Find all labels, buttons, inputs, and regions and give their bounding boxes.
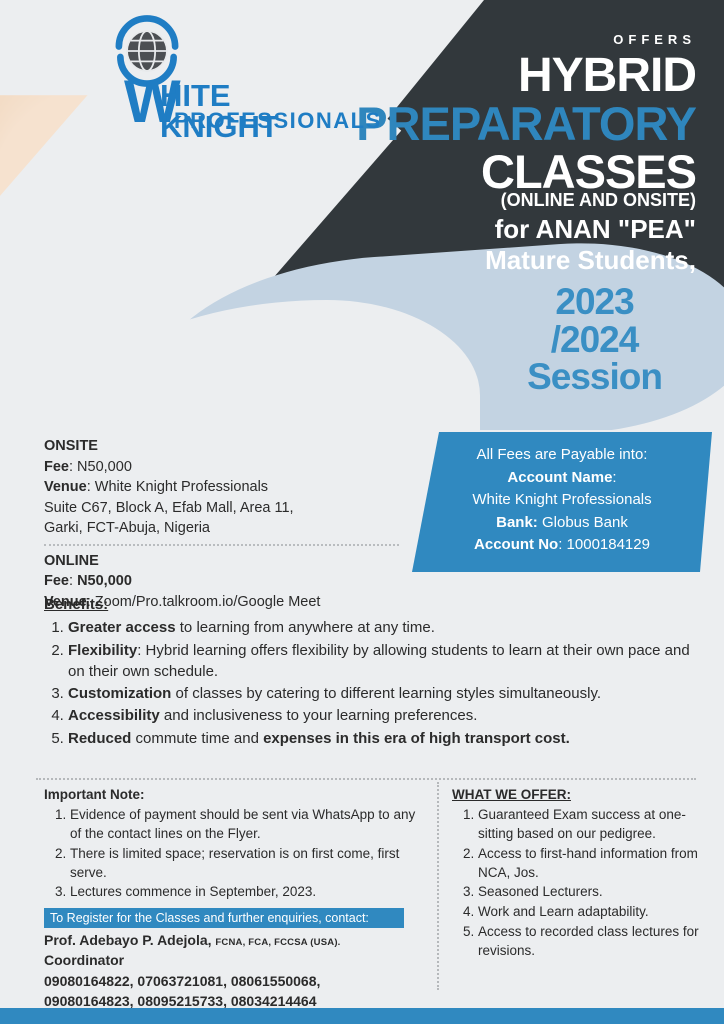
contact-role: Coordinator (44, 950, 434, 970)
onsite-fee-label: Fee (44, 459, 69, 475)
details-divider (44, 544, 399, 546)
title-subtitle: (ONLINE AND ONSITE) (501, 190, 696, 211)
onsite-fee: Fee: N50,000 (44, 457, 414, 478)
account-no-value: : 1000184129 (558, 536, 650, 553)
offer-item: Access to recorded class lectures for re… (478, 923, 702, 961)
contact-phones-line1: 09080164822, 07063721081, 08061550068, (44, 971, 434, 991)
note-item: Evidence of payment should be sent via W… (70, 806, 429, 844)
title-classes: CLASSES (481, 148, 696, 195)
session-line3: Session (527, 356, 662, 397)
contact-name: Prof. Adebayo P. Adejola, (44, 932, 212, 948)
contact-details: Prof. Adebayo P. Adejola, FCNA, FCA, FCC… (44, 930, 434, 1011)
account-no-row: Account No: 1000184129 (412, 534, 712, 557)
what-we-offer-list: Guaranteed Exam success at one-sitting b… (452, 806, 702, 961)
column-divider (437, 782, 439, 990)
contact-credentials: FCNA, FCA, FCCSA (USA). (215, 937, 340, 948)
online-fee: Fee: N50,000 (44, 571, 414, 592)
audience-line2: Mature Students, (485, 245, 696, 275)
benefit-item: Greater access to learning from anywhere… (68, 617, 704, 638)
benefit-lead: Flexibility (68, 642, 137, 659)
benefit-lead: Greater access (68, 619, 176, 636)
benefit-rest: to learning from anywhere at any time. (176, 619, 435, 636)
benefits-title: Benefits: (44, 594, 704, 615)
bank-label: Bank: (496, 514, 538, 531)
payment-box: All Fees are Payable into: Account Name:… (412, 432, 712, 572)
onsite-fee-value: : N50,000 (69, 459, 132, 475)
benefit-lead: Accessibility (68, 707, 160, 724)
offer-item: Access to first-hand information from NC… (478, 845, 702, 883)
benefit-rest: : Hybrid learning offers flexibility by … (68, 642, 690, 680)
benefit-rest: commute time and (131, 730, 263, 747)
benefit-item: Accessibility and inclusiveness to your … (68, 705, 704, 726)
offer-item: Guaranteed Exam success at one-sitting b… (478, 806, 702, 844)
bank-value: Globus Bank (542, 514, 628, 531)
important-note-title: Important Note: (44, 786, 429, 805)
benefit-rest: of classes by catering to different lear… (171, 685, 601, 702)
account-name-value: White Knight Professionals (412, 489, 712, 512)
bank-row: Bank: Globus Bank (412, 512, 712, 535)
venue-details: ONSITE Fee: N50,000 Venue: White Knight … (44, 436, 414, 613)
benefits-section: Benefits: Greater access to learning fro… (44, 594, 704, 750)
flyer-page: OFFERS HYBRID PREPARATORY CLASSES (ONLIN… (0, 0, 724, 1024)
onsite-venue-line3: Garki, FCT-Abuja, Nigeria (44, 518, 414, 539)
onsite-heading: ONSITE (44, 436, 414, 457)
title-audience: for ANAN "PEA" Mature Students, (485, 214, 696, 275)
offer-item: Work and Learn adaptability. (478, 903, 702, 922)
contact-name-row: Prof. Adebayo P. Adejola, FCNA, FCA, FCC… (44, 930, 434, 950)
account-no-label: Account No (474, 536, 558, 553)
benefit-item: Customization of classes by catering to … (68, 683, 704, 704)
note-item: Lectures commence in September, 2023. (70, 883, 429, 902)
account-name-row: Account Name: (412, 467, 712, 490)
session-line2: /2024 (551, 319, 639, 360)
register-contact-bar: To Register for the Classes and further … (44, 908, 404, 928)
bottom-divider (36, 778, 696, 780)
benefit-rest: and inclusiveness to your learning prefe… (160, 707, 478, 724)
company-logo: W HITE KNIGHT PROFESSIONALS (62, 14, 352, 132)
title-preparatory: PREPARATORY (356, 100, 696, 147)
logo-subtext: PROFESSIONALS (174, 110, 382, 132)
audience-line1: for ANAN "PEA" (495, 214, 696, 244)
payment-intro: All Fees are Payable into: (412, 444, 712, 467)
session-years: 2023 /2024 Session (527, 283, 662, 396)
bottom-accent-bar (0, 1008, 724, 1024)
important-note-list: Evidence of payment should be sent via W… (44, 806, 429, 902)
online-fee-value: N50,000 (77, 573, 132, 589)
offer-item: Seasoned Lecturers. (478, 883, 702, 902)
onsite-venue-line1: : White Knight Professionals (87, 479, 268, 495)
benefit-item: Reduced commute time and expenses in thi… (68, 728, 704, 749)
title-hybrid: HYBRID (518, 52, 696, 100)
account-name-label: Account Name (507, 469, 612, 486)
hero-section: OFFERS HYBRID PREPARATORY CLASSES (ONLIN… (0, 0, 724, 430)
offers-label: OFFERS (613, 32, 696, 47)
what-we-offer-title: WHAT WE OFFER: (452, 786, 702, 805)
online-heading: ONLINE (44, 551, 414, 572)
benefit-lead: Reduced (68, 730, 131, 747)
benefit-lead2: expenses in this era of high transport c… (263, 730, 570, 747)
note-item: There is limited space; reservation is o… (70, 845, 429, 883)
onsite-venue-line2: Suite C67, Block A, Efab Mall, Area 11, (44, 498, 414, 519)
benefits-list: Greater access to learning from anywhere… (44, 617, 704, 749)
what-we-offer-section: WHAT WE OFFER: Guaranteed Exam success a… (452, 786, 702, 962)
onsite-venue-label: Venue (44, 479, 87, 495)
onsite-venue: Venue: White Knight Professionals (44, 477, 414, 498)
online-fee-label: Fee (44, 573, 69, 589)
benefit-item: Flexibility: Hybrid learning offers flex… (68, 640, 704, 683)
benefit-lead: Customization (68, 685, 171, 702)
important-note-section: Important Note: Evidence of payment shou… (44, 786, 429, 903)
session-line1: 2023 (555, 281, 633, 322)
